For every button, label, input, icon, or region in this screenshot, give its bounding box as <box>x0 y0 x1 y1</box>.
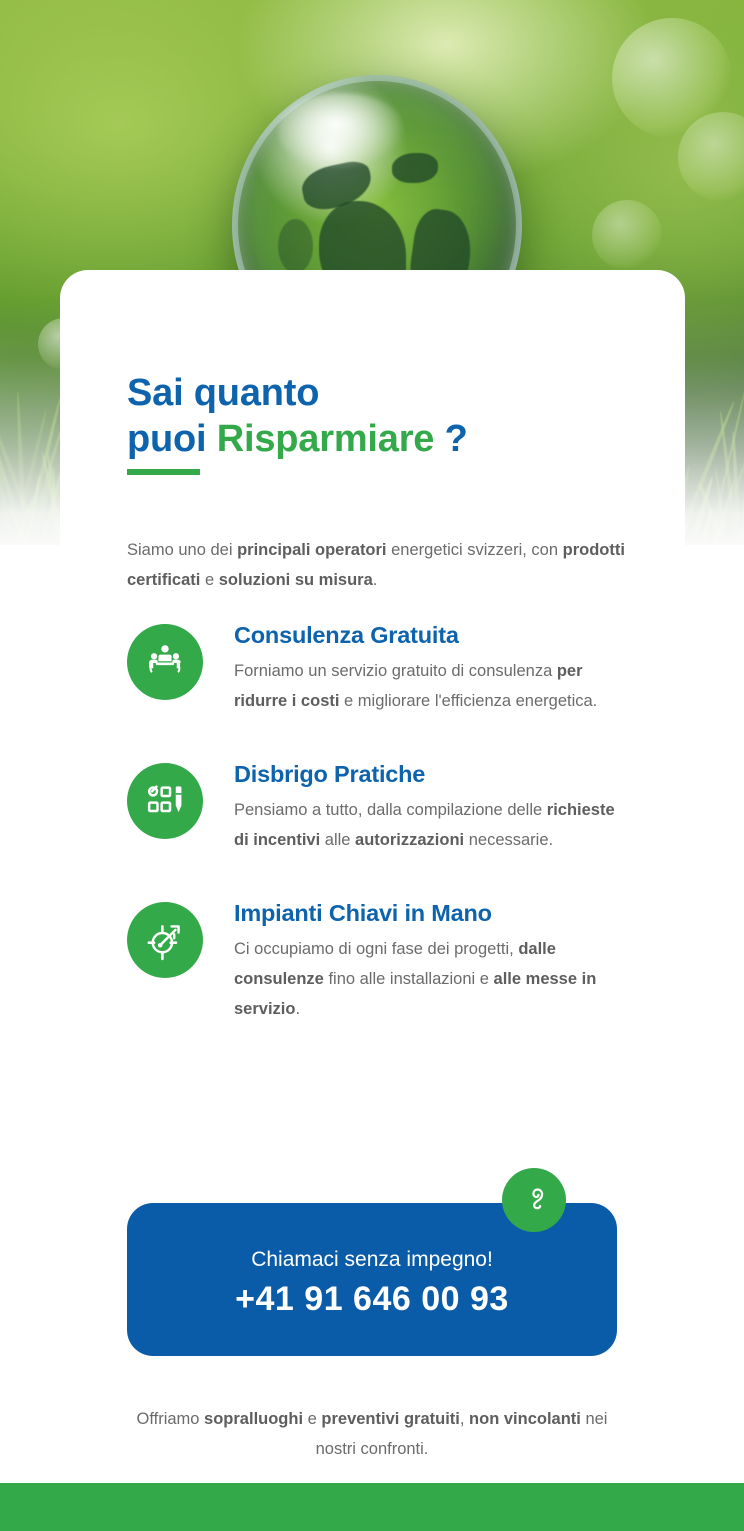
feature-desc-text: Forniamo un servizio gratuito di consule… <box>234 662 557 680</box>
feature-description: Pensiamo a tutto, dalla compilazione del… <box>234 795 627 855</box>
footnote-bold-1: sopralluoghi <box>204 1410 303 1428</box>
bottom-green-bar <box>0 1483 744 1531</box>
key-target-icon <box>127 902 203 978</box>
feature-desc-text: Pensiamo a tutto, dalla compilazione del… <box>234 801 547 819</box>
feature-desc-text: necessarie. <box>464 831 553 849</box>
feature-title: Consulenza Gratuita <box>234 620 627 650</box>
intro-text-1: Siamo uno dei <box>127 541 237 559</box>
feature-description: Forniamo un servizio gratuito di consule… <box>234 656 627 716</box>
headline-line-1: Sai quanto <box>127 372 319 414</box>
cta-section: Chiamaci senza impegno! +41 91 646 00 93 <box>127 1203 617 1356</box>
feature-item: Impianti Chiavi in Mano Ci occupiamo di … <box>127 898 627 1024</box>
footnote-text: Offriamo sopralluoghi e preventivi gratu… <box>127 1404 617 1464</box>
feature-desc-text: . <box>295 1000 300 1018</box>
feature-list: Consulenza Gratuita Forniamo un servizio… <box>127 620 627 1067</box>
phone-handset-icon[interactable] <box>502 1168 566 1232</box>
globe-highlight <box>278 93 406 171</box>
feature-body: Consulenza Gratuita Forniamo un servizio… <box>234 620 627 716</box>
intro-bold-3: soluzioni su misura <box>219 571 373 589</box>
headline-question-mark: ? <box>434 418 467 460</box>
intro-text-2: energetici svizzeri, con <box>387 541 563 559</box>
intro-bold-1: principali operatori <box>237 541 386 559</box>
page-title: Sai quanto puoi Risparmiare ? <box>127 370 468 462</box>
footnote-text-2: e <box>303 1410 321 1428</box>
feature-body: Impianti Chiavi in Mano Ci occupiamo di … <box>234 898 627 1024</box>
feature-desc-bold: autorizzazioni <box>355 831 464 849</box>
headline-accent-word: Risparmiare <box>217 418 434 460</box>
feature-title: Disbrigo Pratiche <box>234 759 627 789</box>
intro-text-3: e <box>200 571 218 589</box>
footnote-bold-3: non vincolanti <box>469 1410 581 1428</box>
feature-desc-text: Ci occupiamo di ogni fase dei progetti, <box>234 940 518 958</box>
phone-number[interactable]: +41 91 646 00 93 <box>235 1277 509 1321</box>
intro-text-4: . <box>373 571 378 589</box>
title-underline-rule <box>127 469 200 475</box>
feature-desc-text: e migliorare l'efficienza energetica. <box>339 692 597 710</box>
form-checklist-pen-icon <box>127 763 203 839</box>
consultation-people-icon <box>127 624 203 700</box>
feature-item: Disbrigo Pratiche Pensiamo a tutto, dall… <box>127 759 627 855</box>
cta-subtitle: Chiamaci senza impegno! <box>251 1245 493 1275</box>
footnote-text-1: Offriamo <box>137 1410 205 1428</box>
footnote-bold-2: preventivi gratuiti <box>321 1410 459 1428</box>
feature-item: Consulenza Gratuita Forniamo un servizio… <box>127 620 627 716</box>
feature-title: Impianti Chiavi in Mano <box>234 898 627 928</box>
feature-body: Disbrigo Pratiche Pensiamo a tutto, dall… <box>234 759 627 855</box>
feature-desc-text: fino alle installazioni e <box>324 970 494 988</box>
headline-line-2-prefix: puoi <box>127 418 217 460</box>
feature-desc-text: alle <box>320 831 355 849</box>
intro-paragraph: Siamo uno dei principali operatori energ… <box>127 535 627 595</box>
feature-description: Ci occupiamo di ogni fase dei progetti, … <box>234 934 627 1024</box>
footnote-text-3: , <box>460 1410 469 1428</box>
